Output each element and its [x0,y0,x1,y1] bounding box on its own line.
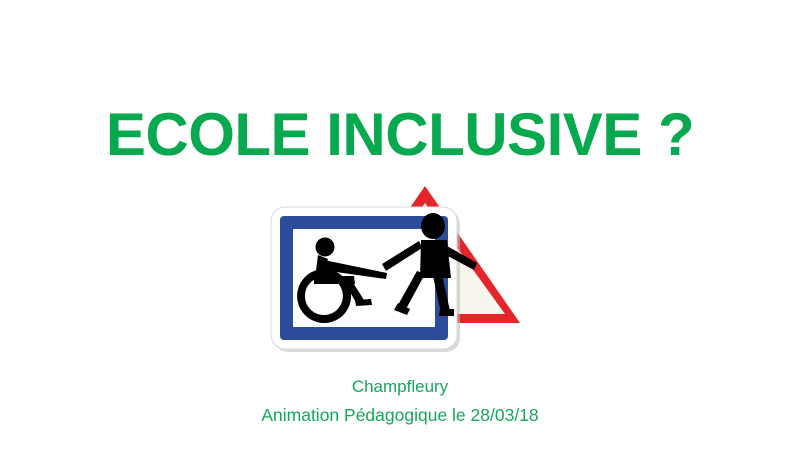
pedestrian-torso [420,240,451,278]
accessibility-signs-image [258,178,526,354]
subtitle-block: Champfleury Animation Pédagogique le 28/… [0,372,800,430]
pedestrian-front-foot [439,309,454,316]
accessibility-signs-illustration [258,178,526,354]
pedestrian-head [421,213,445,239]
wheelchair-user-foot [355,299,372,306]
subtitle-line-event: Animation Pédagogique le 28/03/18 [0,401,800,430]
page-title: ECOLE INCLUSIVE ? [0,100,800,170]
presentation-slide: ECOLE INCLUSIVE ? [0,0,800,450]
subtitle-line-location: Champfleury [0,372,800,401]
wheelchair-user-head [316,238,335,257]
